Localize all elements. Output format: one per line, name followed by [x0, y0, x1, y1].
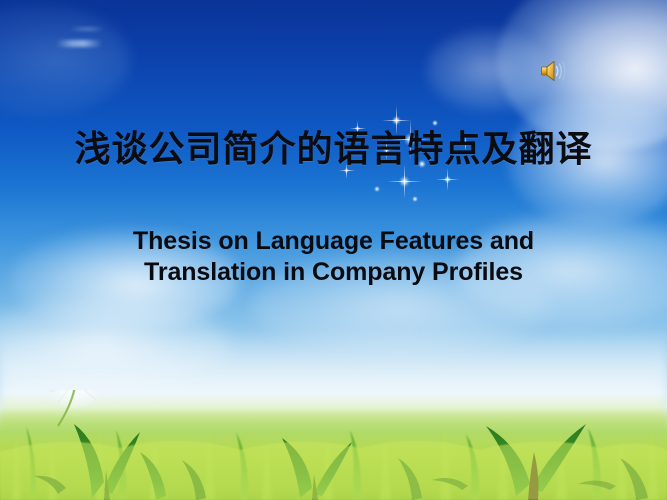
sound-speaker-icon[interactable] — [539, 57, 569, 85]
slide-subtitle: Thesis on Language Features and Translat… — [0, 226, 667, 288]
dandelion-seedhead — [36, 390, 110, 428]
grass-foreground — [0, 390, 667, 500]
slide-subtitle-line-1: Thesis on Language Features and — [0, 226, 667, 257]
slide-title: 浅谈公司简介的语言特点及翻译 — [0, 126, 667, 174]
presentation-slide: 浅谈公司简介的语言特点及翻译 Thesis on Language Featur… — [0, 0, 667, 500]
slide-subtitle-line-2: Translation in Company Profiles — [0, 257, 667, 288]
